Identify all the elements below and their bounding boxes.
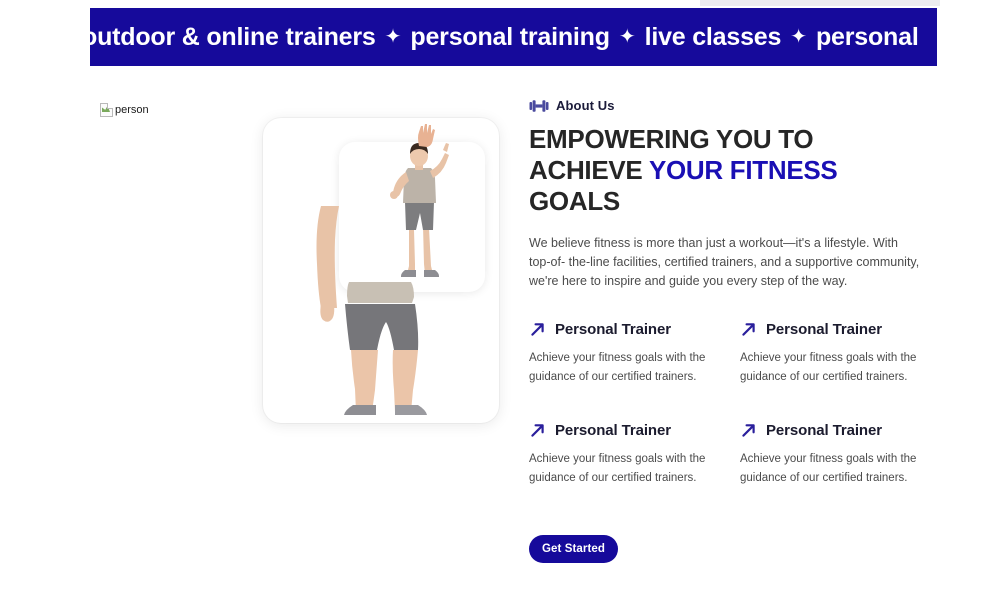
banner-item-1: personal training [410,23,609,52]
broken-image-icon [100,103,113,117]
arrow-up-right-icon [529,321,546,338]
sparkle-icon: ✦ [376,24,411,49]
section-eyebrow: About Us [529,98,929,113]
feature-header: Personal Trainer [740,321,930,338]
hand-detail-icon [415,124,439,150]
about-description: We believe fitness is more than just a w… [529,234,922,291]
feature-title: Personal Trainer [555,321,671,338]
athlete-figure-large [311,198,443,420]
feature-header: Personal Trainer [529,321,719,338]
feature-title: Personal Trainer [766,422,882,439]
feature-card: Personal Trainer Achieve your fitness go… [740,422,930,488]
feature-card: Personal Trainer Achieve your fitness go… [529,422,719,488]
feature-header: Personal Trainer [529,422,719,439]
dumbbell-icon [529,99,549,113]
feature-grid: Personal Trainer Achieve your fitness go… [529,321,929,488]
banner-track: outdoor & online trainers ✦ personal tra… [90,23,919,52]
fitness-photo-card [263,118,499,423]
arrow-up-right-icon [740,321,757,338]
feature-title: Personal Trainer [555,422,671,439]
sparkle-icon: ✦ [781,24,816,49]
arrow-up-right-icon [529,422,546,439]
feature-description: Achieve your fitness goals with the guid… [529,349,719,387]
section-eyebrow-label: About Us [556,98,615,113]
feature-header: Personal Trainer [740,422,930,439]
banner-item-3: personal [816,23,919,52]
feature-title: Personal Trainer [766,321,882,338]
feature-card: Personal Trainer Achieve your fitness go… [740,321,930,387]
about-us-page: outdoor & online trainers ✦ personal tra… [0,0,1000,594]
headline-line-3: GOALS [529,186,620,216]
feature-description: Achieve your fitness goals with the guid… [740,450,930,488]
about-content: About Us EMPOWERING YOU TO ACHIEVE YOUR … [529,98,929,488]
banner-item-0: outdoor & online trainers [90,23,376,52]
page-top-edge-strip [700,0,940,6]
headline-line-2-accent: YOUR FITNESS [649,155,838,185]
headline-line-2-plain: ACHIEVE [529,155,649,185]
headline-line-1: EMPOWERING YOU TO [529,124,813,154]
scrolling-banner: outdoor & online trainers ✦ personal tra… [90,8,937,66]
feature-description: Achieve your fitness goals with the guid… [529,450,719,488]
arrow-up-right-icon [740,422,757,439]
feature-description: Achieve your fitness goals with the guid… [740,349,930,387]
feature-card: Personal Trainer Achieve your fitness go… [529,321,719,387]
get-started-button[interactable]: Get Started [529,535,618,563]
broken-image-alt-text: person [115,104,149,116]
sparkle-icon: ✦ [610,24,645,49]
page-title: EMPOWERING YOU TO ACHIEVE YOUR FITNESS G… [529,124,929,217]
broken-image-placeholder: person [100,103,149,117]
banner-item-2: live classes [645,23,782,52]
media-stack [263,118,499,423]
